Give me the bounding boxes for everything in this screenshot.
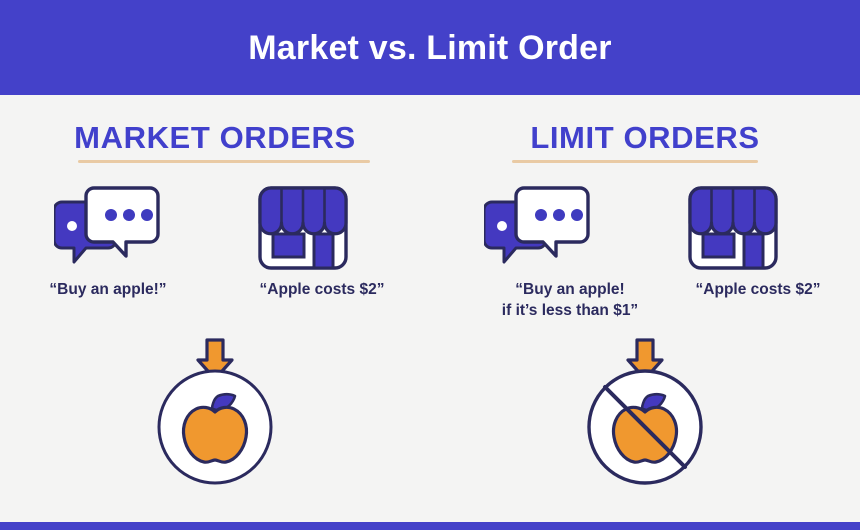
limit-seller-caption: “Apple costs $2” <box>658 280 858 301</box>
market-buyer-caption-line1: “Buy an apple!” <box>8 280 208 301</box>
limit-orders-heading-text: LIMIT ORDERS <box>530 122 759 159</box>
market-buyer-caption: “Buy an apple!” <box>8 280 208 301</box>
limit-buyer-caption: “Buy an apple! if it’s less than $1” <box>470 280 670 322</box>
chat-bubbles-icon <box>484 182 592 274</box>
column-market-orders: MARKET ORDERS <box>0 110 430 520</box>
market-orders-caption-row: “Buy an apple!” “Apple costs $2” <box>0 280 430 340</box>
limit-buyer-caption-line2: if it’s less than $1” <box>470 301 670 322</box>
limit-result-wrap <box>430 368 860 498</box>
storefront-icon <box>256 182 350 274</box>
limit-buyer-caption-line1: “Buy an apple! <box>470 280 670 301</box>
header-band: Market vs. Limit Order <box>0 0 860 95</box>
footer-band <box>0 522 860 530</box>
market-orders-icon-row <box>0 178 430 278</box>
market-orders-heading: MARKET ORDERS <box>0 122 430 159</box>
limit-seller-caption-line1: “Apple costs $2” <box>658 280 858 301</box>
market-buyer-icon-slot <box>20 178 195 278</box>
market-result-wrap <box>0 368 430 498</box>
market-orders-heading-text: MARKET ORDERS <box>74 122 356 159</box>
limit-seller-icon-slot <box>645 178 820 278</box>
storefront-icon <box>686 182 780 274</box>
market-seller-icon-slot <box>215 178 390 278</box>
infographic-page: Market vs. Limit Order MARKET ORDERS <box>0 0 860 530</box>
limit-orders-heading-underline <box>512 160 758 163</box>
limit-orders-heading: LIMIT ORDERS <box>430 122 860 159</box>
market-seller-caption: “Apple costs $2” <box>222 280 422 301</box>
limit-orders-caption-row: “Buy an apple! if it’s less than $1” “Ap… <box>430 280 860 340</box>
apple-not-allowed-icon <box>586 368 704 486</box>
column-limit-orders: LIMIT ORDERS <box>430 110 860 520</box>
chat-bubbles-icon <box>54 182 162 274</box>
page-title: Market vs. Limit Order <box>248 31 611 65</box>
market-orders-heading-underline <box>78 160 370 163</box>
apple-icon <box>156 368 274 486</box>
limit-buyer-icon-slot <box>450 178 625 278</box>
market-seller-caption-line1: “Apple costs $2” <box>222 280 422 301</box>
limit-orders-icon-row <box>430 178 860 278</box>
